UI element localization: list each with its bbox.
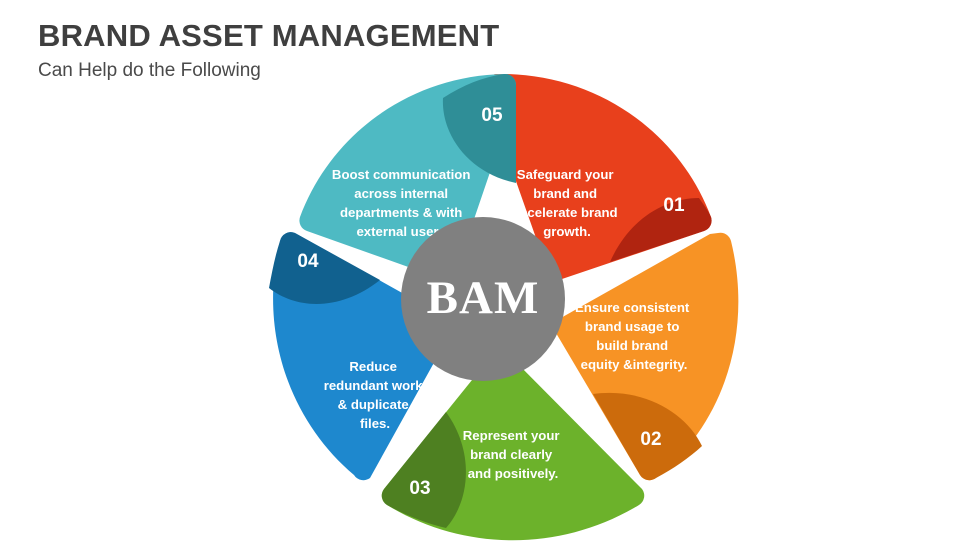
petal-03-line-2: brand clearly bbox=[470, 447, 553, 462]
petal-01-line-2: brand and bbox=[533, 186, 597, 201]
center-hub[interactable]: BAM bbox=[401, 217, 565, 381]
petal-02-line-2: brand usage to bbox=[585, 319, 680, 334]
petal-04-line-3: & duplicate bbox=[338, 397, 409, 412]
center-hub-label: BAM bbox=[427, 272, 540, 324]
petal-01-number: 01 bbox=[663, 195, 685, 216]
petal-diagram-svg: 01 Safeguard your brand and accelerate b… bbox=[210, 40, 770, 550]
petal-05-line-2: across internal bbox=[354, 186, 448, 201]
petal-03-line-1: Represent your bbox=[463, 428, 560, 443]
slide-canvas: BRAND ASSET MANAGEMENT Can Help do the F… bbox=[0, 0, 960, 540]
petal-05-number: 05 bbox=[481, 105, 503, 126]
petal-04-line-2: redundant work bbox=[324, 378, 424, 393]
petal-05-line-3: departments & with bbox=[340, 205, 462, 220]
petal-02-line-3: build brand bbox=[596, 338, 668, 353]
petal-02-line-1: Ensure consistent bbox=[575, 300, 690, 315]
petal-01-line-4: growth. bbox=[543, 224, 591, 239]
petal-05-line-1: Boost communication bbox=[332, 167, 470, 182]
petal-04-number: 04 bbox=[297, 251, 319, 272]
petal-01-line-3: accelerate brand bbox=[513, 205, 618, 220]
petal-01-line-1: Safeguard your bbox=[517, 167, 614, 182]
petal-diagram: 01 Safeguard your brand and accelerate b… bbox=[210, 40, 770, 550]
petal-02-line-4: equity &integrity. bbox=[581, 357, 688, 372]
petal-03-text: Represent your brand clearly and positiv… bbox=[463, 428, 563, 481]
petal-03-line-3: and positively. bbox=[468, 466, 559, 481]
petal-04-line-4: files. bbox=[360, 416, 390, 431]
petal-02-number: 02 bbox=[640, 429, 661, 450]
petal-04-line-1: Reduce bbox=[349, 359, 397, 374]
petal-03-number: 03 bbox=[409, 478, 430, 499]
